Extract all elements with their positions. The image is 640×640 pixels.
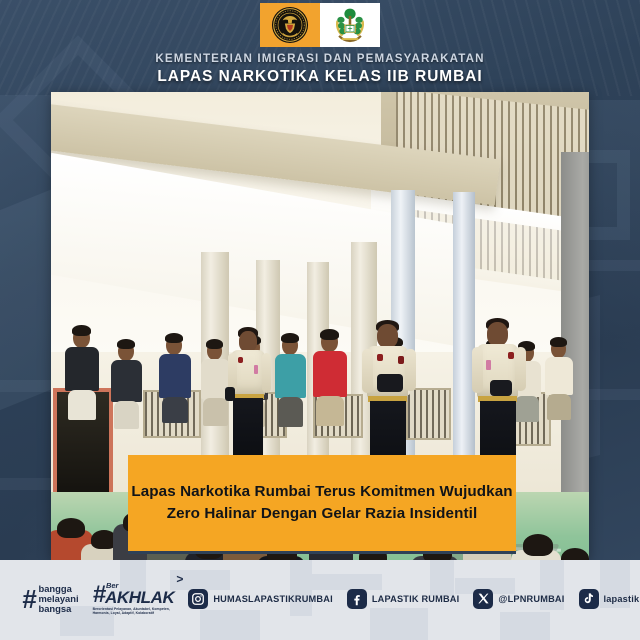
social-handle-tiktok[interactable]: lapastikrumbai <box>604 594 640 604</box>
social-link-tiktok[interactable]: lapastikrumbai <box>579 589 640 609</box>
hash-icon: # <box>93 584 105 606</box>
facebook-icon[interactable] <box>347 589 367 609</box>
social-media-poster: KEMENTERIAN IMIGRASI DAN PEMASYARAKATAN … <box>0 0 640 640</box>
poster-header: KEMENTERIAN IMIGRASI DAN PEMASYARAKATAN … <box>0 0 640 92</box>
caption-line-1: Lapas Narkotika Rumbai Terus Komitmen Wu… <box>131 481 512 503</box>
social-links-row: # bangga melayani bangsa # Ber AKHLAK > … <box>0 582 640 616</box>
logo-group <box>260 3 380 47</box>
photo-barred-window <box>406 388 451 440</box>
caption-banner: Lapas Narkotika Rumbai Terus Komitmen Wu… <box>128 455 516 551</box>
berakhlak-logo: # Ber AKHLAK > Berorientasi Pelayanan, A… <box>93 582 175 616</box>
instagram-icon[interactable] <box>188 589 208 609</box>
footer-decor <box>500 612 550 640</box>
photo-column <box>453 192 475 490</box>
photo-column-dark <box>561 152 589 512</box>
social-link-instagram[interactable]: HUMASLAPASTIKRUMBAI <box>188 589 333 609</box>
social-link-facebook[interactable]: LAPASTIK RUMBAI <box>347 589 460 609</box>
social-link-x[interactable]: @LPNRUMBAI <box>473 589 564 609</box>
news-photo: A12 <box>51 92 589 560</box>
garuda-ministry-seal-icon <box>260 3 320 47</box>
hash-icon: # <box>22 586 35 612</box>
tiktok-icon[interactable] <box>579 589 599 609</box>
bangga-line-3: bangsa <box>38 604 78 614</box>
ministry-name: KEMENTERIAN IMIGRASI DAN PEMASYARAKATAN <box>0 52 640 65</box>
caption-line-2: Zero Halinar Dengan Gelar Razia Insident… <box>167 503 478 525</box>
social-handle-facebook[interactable]: LAPASTIK RUMBAI <box>372 594 460 604</box>
chevron-right-icon: > <box>176 573 183 585</box>
pemasyarakatan-emblem-icon <box>320 3 380 47</box>
bangga-melayani-bangsa-logo: # bangga melayani bangsa <box>22 584 79 614</box>
x-twitter-icon[interactable] <box>473 589 493 609</box>
social-handle-x[interactable]: @LPNRUMBAI <box>498 594 564 604</box>
poster-footer: # bangga melayani bangsa # Ber AKHLAK > … <box>0 560 640 640</box>
berakhlak-tagline: Berorientasi Pelayanan, Akuntabel, Kompe… <box>93 607 171 616</box>
berakhlak-word: AKHLAK <box>105 590 174 606</box>
social-handle-instagram[interactable]: HUMASLAPASTIKRUMBAI <box>213 594 333 604</box>
unit-name: LAPAS NARKOTIKA KELAS IIB RUMBAI <box>0 68 640 86</box>
